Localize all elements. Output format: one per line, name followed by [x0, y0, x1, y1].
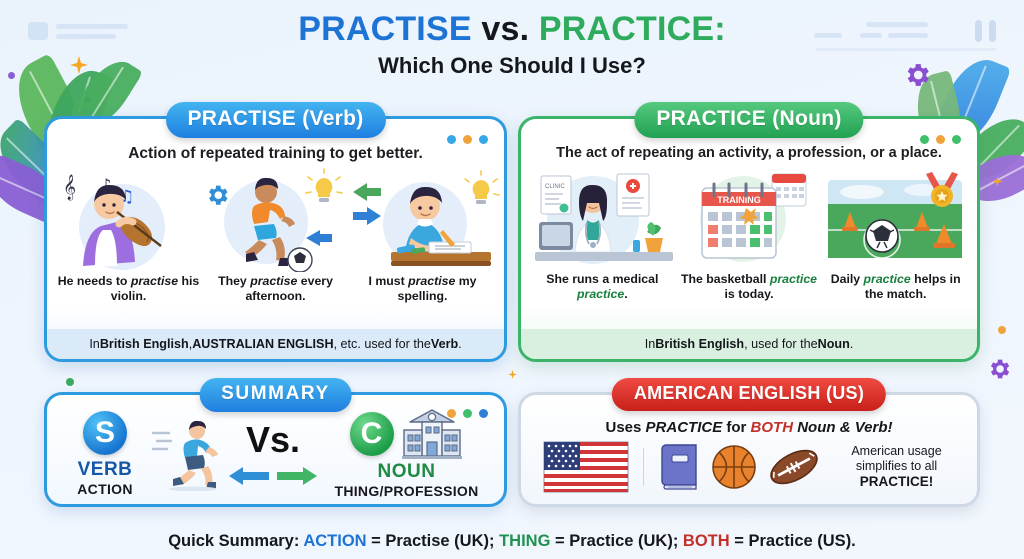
footnote-text: . — [458, 337, 462, 351]
american-english-card: AMERICAN ENGLISH (US) Uses PRACTICE for … — [518, 392, 980, 507]
quick-both-key: BOTH — [683, 532, 730, 550]
note-line: American usage — [830, 444, 963, 459]
window-dots — [920, 135, 961, 144]
footnote-text: . — [850, 337, 854, 351]
noun-badge: C — [350, 412, 394, 456]
note-line: simplifies to all — [830, 459, 963, 474]
title-practice: PRACTICE: — [539, 10, 726, 48]
verb-badge: S — [83, 411, 127, 455]
example-item: Daily practice helps in the match. — [822, 272, 969, 302]
american-football-icon — [766, 445, 822, 489]
footnote-text: In — [89, 337, 100, 351]
arrow-left-blue-icon — [227, 466, 271, 486]
training-calendar-illustration: TRAINING — [676, 166, 823, 270]
headline-text: for — [722, 419, 750, 436]
american-headline: Uses PRACTICE for BOTH Noun & Verb! — [521, 419, 977, 436]
deco-dot — [84, 96, 91, 103]
arrow-right-green-icon — [275, 466, 319, 486]
headline-practice: PRACTICE — [646, 419, 723, 436]
quick-prefix: Quick Summary: — [168, 532, 303, 550]
practise-footnote: In British English, AUSTRALIAN ENGLISH, … — [47, 329, 504, 359]
practice-illustrations: CLINIC — [521, 166, 977, 270]
example-emphasis: practice — [577, 287, 624, 301]
svg-text:TRAINING: TRAINING — [717, 195, 761, 205]
title-vs: vs. — [472, 10, 539, 48]
example-item: I must practise my spelling. — [349, 274, 496, 304]
example-emphasis: practise — [408, 274, 455, 288]
example-emphasis: practice — [770, 272, 817, 286]
example-item: He needs to practise his violin. — [55, 274, 202, 304]
footnote-bold: Verb — [431, 337, 458, 351]
example-pre: They — [218, 274, 250, 288]
practice-noun-card: PRACTICE (Noun) The act of repeating an … — [518, 116, 980, 362]
quick-both-value: = Practice (US). — [730, 532, 856, 550]
quick-action-key: ACTION — [303, 532, 366, 550]
footnote-text: , etc. used for the — [334, 337, 431, 351]
verb-sublabel: ACTION — [77, 481, 132, 497]
quick-summary-bar: Quick Summary: ACTION = Practise (UK); T… — [0, 532, 1024, 551]
example-pre: He needs to — [58, 274, 131, 288]
example-emphasis: practise — [250, 274, 297, 288]
us-flag-icon — [543, 441, 629, 493]
svg-text:CLINIC: CLINIC — [545, 184, 565, 190]
practise-illustrations: 𝄞 ♪ ♫ ♪ — [47, 168, 504, 272]
practise-verb-card: PRACTISE (Verb) Action of repeated train… — [44, 116, 507, 362]
basketball-icon — [710, 443, 758, 491]
page-title: PRACTISE vs. PRACTICE: Which One Should … — [0, 10, 1024, 79]
example-pre: I must — [368, 274, 408, 288]
example-pre: Daily — [831, 272, 864, 286]
footnote-bold: AUSTRALIAN ENGLISH — [192, 337, 333, 351]
american-note: American usage simplifies to all PRACTIC… — [830, 444, 963, 490]
deco-dot — [66, 378, 74, 386]
headline-text: Uses — [606, 419, 646, 436]
american-body: American usage simplifies to all PRACTIC… — [521, 436, 977, 493]
verb-label: VERB — [78, 459, 133, 481]
practise-card-pill: PRACTISE (Verb) — [165, 102, 385, 138]
svg-text:𝄞: 𝄞 — [63, 174, 76, 200]
footnote-bold: British English — [100, 337, 189, 351]
note-line-bold: PRACTICE! — [860, 474, 934, 489]
footnote-text: , used for the — [744, 337, 818, 351]
quick-thing-key: THING — [499, 532, 550, 550]
footnote-bold: British English — [655, 337, 744, 351]
summary-verb-group: S VERB ACTION — [59, 411, 151, 497]
practice-card-pill: PRACTICE (Noun) — [634, 102, 863, 138]
example-post: . — [624, 287, 627, 301]
violinist-illustration: 𝄞 ♪ ♫ ♪ — [55, 168, 202, 272]
window-dots — [447, 135, 488, 144]
footnote-text: In — [645, 337, 656, 351]
example-item: The basketball practice is today. — [676, 272, 823, 302]
noun-sublabel: THING/PROFESSION — [334, 483, 478, 499]
example-pre: She runs a medical — [546, 272, 658, 286]
page-subtitle: Which One Should I Use? — [0, 53, 1024, 79]
gear-icon — [986, 356, 1012, 382]
noun-label: NOUN — [378, 461, 436, 483]
blue-book-icon — [658, 442, 702, 492]
summary-arrows — [227, 466, 319, 486]
practice-definition: The act of repeating an activity, a prof… — [521, 145, 977, 161]
footnote-bold: Noun — [818, 337, 850, 351]
summary-card-pill: SUMMARY — [199, 378, 352, 412]
example-post: is today. — [725, 287, 774, 301]
practise-definition: Action of repeated training to get bette… — [47, 145, 504, 163]
vs-label: Vs. — [246, 422, 300, 458]
student-writing-illustration — [349, 168, 496, 272]
title-practise: PRACTISE — [298, 10, 472, 48]
quick-action-value: = Practise (UK); — [367, 532, 500, 550]
example-emphasis: practise — [131, 274, 178, 288]
example-item: She runs a medical practice. — [529, 272, 676, 302]
running-person-icon — [151, 417, 225, 491]
example-emphasis: practice — [864, 272, 911, 286]
doctor-clinic-illustration: CLINIC — [529, 166, 676, 270]
soccer-player-illustration — [202, 168, 349, 272]
deco-dot — [998, 326, 1006, 334]
headline-text: Noun & Verb! — [793, 419, 892, 436]
american-card-pill: AMERICAN ENGLISH (US) — [612, 378, 886, 411]
soccer-field-illustration — [822, 166, 969, 270]
summary-vs-group: Vs. — [225, 422, 321, 486]
divider — [643, 448, 644, 486]
example-pre: The basketball — [681, 272, 770, 286]
summary-card: SUMMARY S VERB ACTION — [44, 392, 507, 507]
practice-examples: She runs a medical practice. The basketb… — [521, 270, 977, 302]
practice-footnote: In British English, used for the Noun. — [521, 329, 977, 359]
school-building-icon — [400, 408, 464, 460]
practise-examples: He needs to practise his violin. They pr… — [47, 272, 504, 304]
quick-thing-value: = Practice (UK); — [550, 532, 683, 550]
headline-both: BOTH — [751, 419, 794, 436]
summary-noun-group: C NOUN THING/PROFESSION — [321, 408, 492, 499]
example-item: They practise every afternoon. — [202, 274, 349, 304]
